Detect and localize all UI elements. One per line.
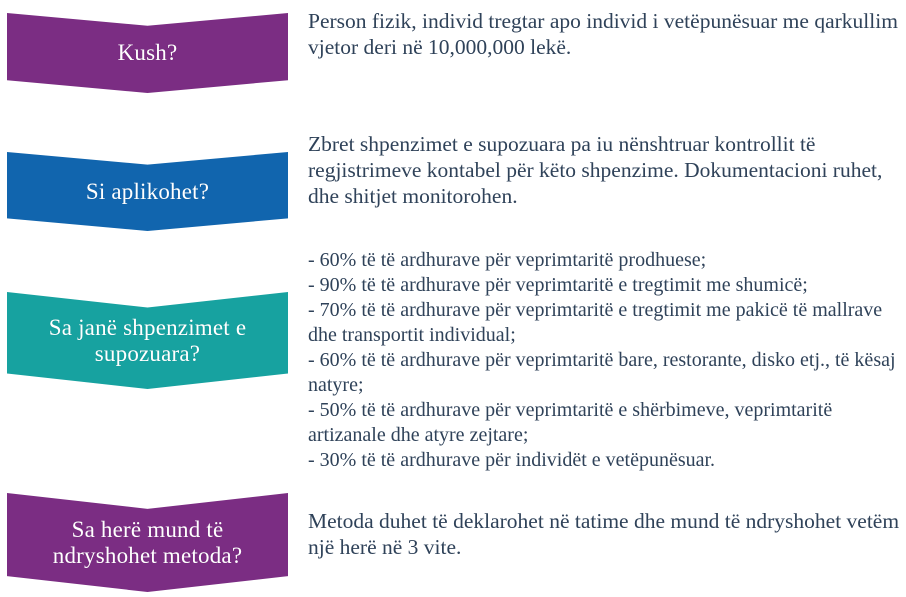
body-text-change: Metoda duhet të deklarohet në tatime dhe… — [308, 508, 900, 560]
infographic-canvas: Kush? Person fizik, individ tregtar apo … — [0, 0, 906, 597]
chevron-label-who: Kush? — [104, 40, 192, 66]
chevron-label-change: Sa herë mund të ndryshohet metoda? — [7, 517, 288, 569]
list-item: - 70% të të ardhurave për veprimtaritë e… — [308, 298, 900, 348]
chevron-banner-how[interactable]: Si aplikohet? — [7, 152, 288, 231]
list-item: - 90% të të ardhurave për veprimtaritë e… — [308, 273, 900, 298]
chevron-banner-expenses[interactable]: Sa janë shpenzimet e supozuara? — [7, 292, 288, 389]
list-item: - 50% të të ardhurave për veprimtaritë e… — [308, 398, 900, 448]
chevron-banner-change[interactable]: Sa herë mund të ndryshohet metoda? — [7, 493, 288, 592]
chevron-banner-who[interactable]: Kush? — [7, 13, 288, 93]
list-item: - 60% të të ardhurave për veprimtaritë b… — [308, 348, 900, 398]
body-list-expenses: - 60% të të ardhurave për veprimtaritë p… — [308, 248, 900, 473]
chevron-label-expenses: Sa janë shpenzimet e supozuara? — [7, 315, 288, 367]
list-item: - 60% të të ardhurave për veprimtaritë p… — [308, 248, 900, 273]
body-paragraph: Zbret shpenzimet e supozuara pa iu nënsh… — [308, 131, 900, 210]
body-paragraph: Metoda duhet të deklarohet në tatime dhe… — [308, 508, 900, 560]
body-paragraph: Person fizik, individ tregtar apo indivi… — [308, 8, 900, 60]
list-item: - 30% të të ardhurave për individët e ve… — [308, 448, 900, 473]
body-text-how: Zbret shpenzimet e supozuara pa iu nënsh… — [308, 131, 900, 210]
body-text-who: Person fizik, individ tregtar apo indivi… — [308, 8, 900, 60]
chevron-label-how: Si aplikohet? — [72, 179, 223, 205]
